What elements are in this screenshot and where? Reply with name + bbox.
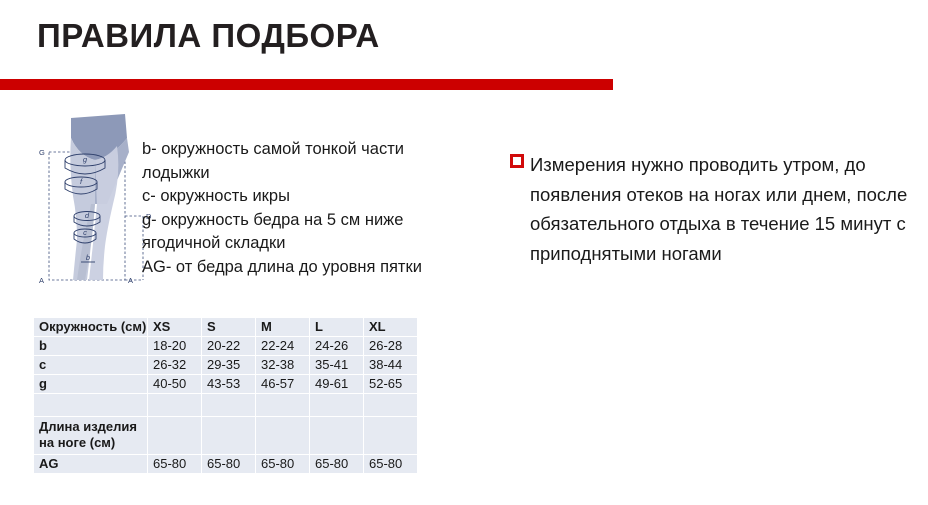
group-header-cell: [148, 417, 202, 455]
size-chart-table: Окружность (см) XS S M L XL b 18-20 20-2…: [33, 317, 418, 474]
corner-label-a-right: A: [128, 276, 133, 285]
legend-line-g: g- окружность бедра на 5 см ниже ягодичн…: [142, 209, 442, 256]
table-header-xl: XL: [364, 318, 418, 337]
row-label: c: [34, 356, 148, 375]
cell-xl: 52-65: [364, 375, 418, 394]
ring-label-c: c: [83, 228, 87, 237]
cell-xs: 65-80: [148, 455, 202, 474]
cell-xs: 26-32: [148, 356, 202, 375]
table-header-circumference: Окружность (см): [34, 318, 148, 337]
cell-l: 65-80: [310, 455, 364, 474]
legend-line-b: b- окружность самой тонкой части лодыжки: [142, 138, 442, 185]
cell-s: 43-53: [202, 375, 256, 394]
table-header-s: S: [202, 318, 256, 337]
cell-s: 29-35: [202, 356, 256, 375]
table-group-header-row: Длина изделия на ноге (см): [34, 417, 418, 455]
corner-label-g: G: [39, 148, 45, 157]
table-header-l: L: [310, 318, 364, 337]
spacer-label: [34, 394, 148, 417]
cell-s: 20-22: [202, 337, 256, 356]
ring-label-b: b: [86, 253, 90, 262]
table-row: c 26-32 29-35 32-38 35-41 38-44: [34, 356, 418, 375]
note-text: Измерения нужно проводить утром, до появ…: [530, 150, 909, 268]
page-title: ПРАВИЛА ПОДБОРА: [37, 17, 380, 55]
cell-xl: 65-80: [364, 455, 418, 474]
group-header-cell: [364, 417, 418, 455]
cell-s: 65-80: [202, 455, 256, 474]
row-label: b: [34, 337, 148, 356]
cell-xl: 26-28: [364, 337, 418, 356]
spacer-cell: [364, 394, 418, 417]
cell-l: 49-61: [310, 375, 364, 394]
group-header-cell: [202, 417, 256, 455]
spacer-cell: [256, 394, 310, 417]
legend-line-ag: AG- от бедра длина до уровня пятки: [142, 256, 442, 280]
spacer-cell: [202, 394, 256, 417]
title-underline-rule: [0, 79, 613, 90]
row-label: g: [34, 375, 148, 394]
cell-xs: 40-50: [148, 375, 202, 394]
measurement-legend: b- окружность самой тонкой части лодыжки…: [142, 138, 442, 279]
measurement-time-note: Измерения нужно проводить утром, до появ…: [509, 150, 909, 268]
table-header-row: Окружность (см) XS S M L XL: [34, 318, 418, 337]
corner-label-a-left: A: [39, 276, 44, 285]
row-label: AG: [34, 455, 148, 474]
cell-l: 24-26: [310, 337, 364, 356]
table-header-m: M: [256, 318, 310, 337]
leg-measurement-diagram: g f d c b G D A A: [33, 112, 158, 292]
group-header-label: Длина изделия на ноге (см): [34, 417, 148, 455]
spacer-cell: [310, 394, 364, 417]
cell-xs: 18-20: [148, 337, 202, 356]
table-row: AG 65-80 65-80 65-80 65-80 65-80: [34, 455, 418, 474]
square-bullet-icon: [510, 154, 524, 168]
legend-line-c: c- окружность икры: [142, 185, 442, 209]
cell-m: 32-38: [256, 356, 310, 375]
table-row: b 18-20 20-22 22-24 24-26 26-28: [34, 337, 418, 356]
cell-l: 35-41: [310, 356, 364, 375]
table-header-xs: XS: [148, 318, 202, 337]
group-header-cell: [256, 417, 310, 455]
table-row: g 40-50 43-53 46-57 49-61 52-65: [34, 375, 418, 394]
cell-xl: 38-44: [364, 356, 418, 375]
group-header-cell: [310, 417, 364, 455]
cell-m: 46-57: [256, 375, 310, 394]
cell-m: 22-24: [256, 337, 310, 356]
spacer-cell: [148, 394, 202, 417]
table-spacer-row: [34, 394, 418, 417]
cell-m: 65-80: [256, 455, 310, 474]
